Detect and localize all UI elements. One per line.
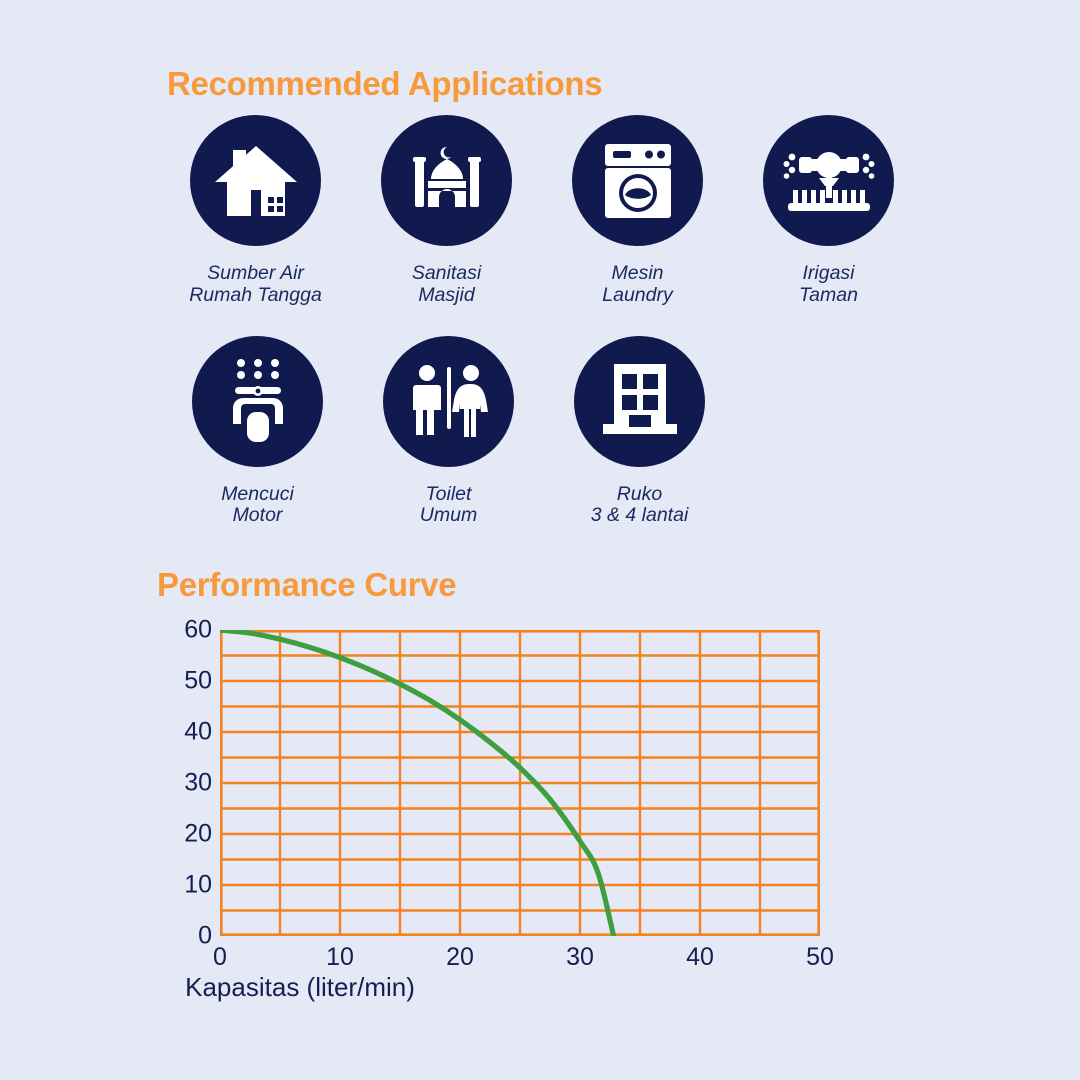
applications-row-1: Sumber Air Rumah Tangga (160, 115, 940, 307)
chart-plot-area: 010203040506001020304050 (220, 630, 820, 936)
application-item-toilet-umum[interactable]: Toilet Umum (353, 336, 544, 528)
chart-y-tick: 50 (184, 667, 212, 696)
application-item-mencuci-motor[interactable]: Mencuci Motor (162, 336, 353, 528)
applications-grid: Sumber Air Rumah Tangga (160, 115, 940, 527)
application-label: Mencuci Motor (221, 484, 294, 528)
sprinkler-icon (783, 148, 875, 214)
performance-chart: 010203040506001020304050 Head (meter) Ka… (0, 600, 1080, 1060)
application-label: Sanitasi Masjid (412, 263, 481, 307)
house-icon (213, 144, 299, 218)
house-icon-circle (190, 115, 321, 246)
chart-y-tick: 10 (184, 871, 212, 900)
building-icon (601, 362, 679, 440)
chart-y-tick: 0 (198, 922, 212, 951)
chart-y-tick: 20 (184, 820, 212, 849)
application-item-irigasi-taman[interactable]: Irigasi Taman (733, 115, 924, 307)
application-label: Toilet Umum (420, 484, 477, 528)
scooter-wash-icon (223, 358, 293, 444)
chart-x-tick: 30 (566, 943, 594, 972)
application-label: Sumber Air Rumah Tangga (189, 263, 322, 307)
building-icon-circle (574, 336, 705, 467)
chart-x-tick: 50 (806, 943, 834, 972)
chart-x-tick: 10 (326, 943, 354, 972)
application-label: Ruko 3 & 4 lantai (591, 484, 689, 528)
scooter-wash-icon-circle (192, 336, 323, 467)
application-item-ruko[interactable]: Ruko 3 & 4 lantai (544, 336, 735, 528)
application-label: Mesin Laundry (602, 263, 672, 307)
chart-x-axis-label: Kapasitas (liter/min) (185, 972, 415, 1003)
recommended-applications-title: Recommended Applications (167, 65, 602, 103)
applications-row-2: Mencuci Motor Toilet Umum (162, 336, 940, 528)
sprinkler-icon-circle (763, 115, 894, 246)
application-item-mesin-laundry[interactable]: Mesin Laundry (542, 115, 733, 307)
chart-svg (220, 630, 820, 936)
restroom-icon (410, 365, 488, 437)
application-item-sanitasi-masjid[interactable]: Sanitasi Masjid (351, 115, 542, 307)
chart-y-tick: 60 (184, 616, 212, 645)
application-item-sumber-air[interactable]: Sumber Air Rumah Tangga (160, 115, 351, 307)
restroom-icon-circle (383, 336, 514, 467)
application-label: Irigasi Taman (799, 263, 858, 307)
chart-x-tick: 40 (686, 943, 714, 972)
mosque-icon-circle (381, 115, 512, 246)
chart-x-tick: 20 (446, 943, 474, 972)
washing-machine-icon-circle (572, 115, 703, 246)
chart-y-tick: 40 (184, 718, 212, 747)
mosque-icon (407, 141, 487, 221)
performance-curve-title: Performance Curve (157, 566, 456, 604)
chart-x-tick: 0 (213, 943, 227, 972)
washing-machine-icon (603, 142, 673, 220)
chart-y-tick: 30 (184, 769, 212, 798)
